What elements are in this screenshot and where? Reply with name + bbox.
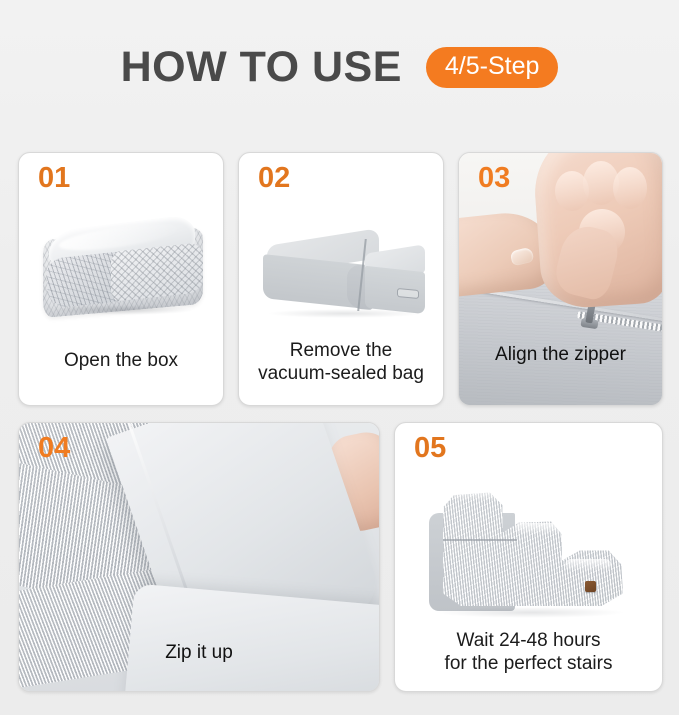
step-caption-05-line-1: Wait 24-48 hours	[395, 629, 662, 652]
step-caption-05: Wait 24-48 hours for the perfect stairs	[395, 629, 662, 675]
step-caption-05-line-2: for the perfect stairs	[395, 652, 662, 675]
step-card-04: 04 Zip it up	[18, 422, 380, 692]
step-card-05: 05 Wait 24-48 hours for the perfect stai…	[394, 422, 663, 692]
step-count-badge: 4/5-Step	[426, 47, 559, 88]
step-caption-04: Zip it up	[19, 641, 379, 665]
steps-grid: 01 Open the box 02 Remove the vacuum-sea…	[18, 152, 661, 690]
page-title: HOW TO USE	[121, 46, 402, 89]
step-number-04: 04	[38, 433, 70, 465]
step-number-05: 05	[414, 433, 446, 465]
page-header: HOW TO USE 4/5-Step	[0, 38, 679, 96]
step-number-02: 02	[258, 163, 290, 195]
step-caption-02-line-2: vacuum-sealed bag	[239, 362, 443, 385]
step-number-01: 01	[38, 163, 70, 195]
step-card-03: 03 Align the zipper	[458, 152, 663, 406]
step-card-01: 01 Open the box	[18, 152, 224, 406]
step-caption-02-line-1: Remove the	[239, 339, 443, 362]
step-caption-02: Remove the vacuum-sealed bag	[239, 339, 443, 385]
brand-tag-icon	[585, 581, 596, 592]
step-caption-01: Open the box	[19, 349, 223, 373]
step-caption-03: Align the zipper	[459, 343, 662, 367]
step-card-02: 02 Remove the vacuum-sealed bag	[238, 152, 444, 406]
step-number-03: 03	[478, 163, 510, 195]
